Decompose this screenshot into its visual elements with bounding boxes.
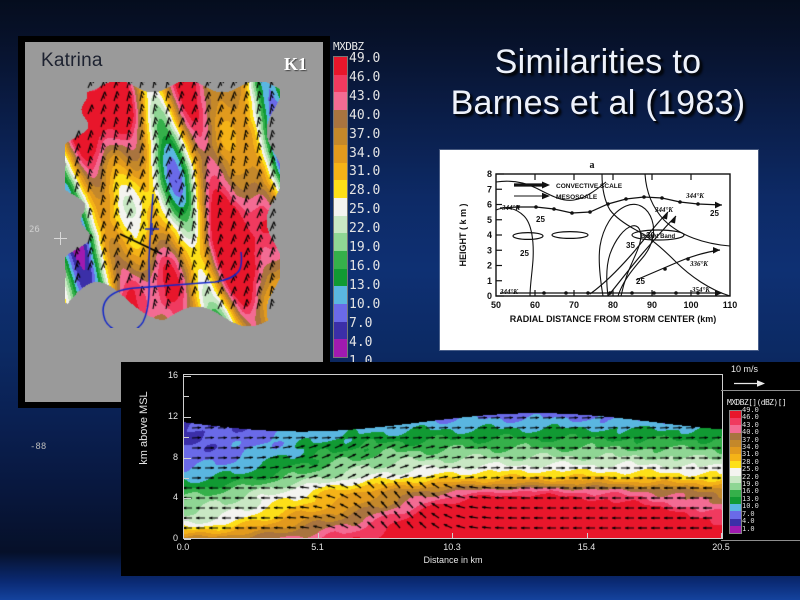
colorbar-swatch — [730, 447, 741, 454]
barnes-x-tick: 80 — [608, 300, 618, 310]
barnes-y-tick: 2 — [487, 261, 492, 271]
cross-section-y-tick: 0 — [156, 533, 178, 543]
colorbar-swatch — [334, 57, 347, 75]
colorbar-swatch — [334, 163, 347, 181]
longitude-tick-label: -88 — [30, 442, 46, 452]
barnes-x-tick: 60 — [530, 300, 540, 310]
barnes-y-tick: 7 — [487, 184, 492, 194]
colorbar-swatch — [730, 418, 741, 425]
storm-name-label: Katrina — [41, 50, 103, 72]
colorbar-tick-label: 10.0 — [349, 296, 389, 315]
svg-text:25: 25 — [710, 209, 719, 218]
colorbar-swatch — [730, 504, 741, 511]
svg-text:MESOSCALE: MESOSCALE — [556, 194, 598, 201]
cross-section-x-tick: 10.3 — [441, 542, 463, 552]
colorbar-tick-label: 16.0 — [349, 258, 389, 277]
colorbar-tick-label: 31.0 — [349, 163, 389, 182]
svg-text:344°K: 344°K — [501, 204, 521, 212]
vector-scale-arrow-icon — [733, 379, 767, 388]
svg-text:344°K: 344°K — [499, 288, 519, 296]
barnes-x-tick: 50 — [491, 300, 501, 310]
panel-divider-bottom — [721, 540, 800, 541]
svg-text:HEIGHT ( k m ): HEIGHT ( k m ) — [458, 203, 468, 266]
cross-section-y-tick: 8 — [156, 452, 178, 462]
cross-section-x-tick: 15.4 — [576, 542, 598, 552]
cross-section-x-axis-label: Distance in km — [183, 555, 723, 565]
colorbar-swatch — [334, 304, 347, 322]
cross-section-plot-area — [183, 374, 723, 539]
colorbar-swatch — [730, 483, 741, 490]
colorbar-swatch — [334, 269, 347, 287]
svg-text:a: a — [590, 160, 595, 171]
colorbar-swatch — [334, 251, 347, 269]
colorbar-swatch — [334, 145, 347, 163]
colorbar-swatch — [730, 476, 741, 483]
colorbar-swatch — [730, 454, 741, 461]
barnes-y-tick: 4 — [487, 230, 492, 240]
colorbar-swatch — [334, 286, 347, 304]
cross-section-x-tick: 0.0 — [172, 542, 194, 552]
cross-section-y-tick-mark — [184, 458, 191, 459]
panel-divider-top — [721, 390, 800, 391]
radar-plot-background: Katrina K1 26 — [25, 42, 323, 402]
cross-section-colorbar-tick-labels: 49.046.043.040.037.034.031.028.025.022.0… — [742, 407, 778, 535]
colorbar-tick-label: 13.0 — [349, 277, 389, 296]
cross-section-x-tick-mark — [721, 533, 722, 539]
cross-section-y-tick-mark — [184, 498, 191, 499]
colorbar-swatch — [334, 198, 347, 216]
barnes-y-tick: 1 — [487, 276, 492, 286]
colorbar-tick-label: 46.0 — [349, 69, 389, 88]
svg-text:25: 25 — [636, 277, 645, 286]
cross-section-y-minor-tick — [184, 396, 189, 397]
cross-section-y-minor-tick — [184, 478, 189, 479]
cross-section-x-tick: 5.1 — [307, 542, 329, 552]
presentation-slide: Similarities to Barnes et al (1983) Katr… — [0, 0, 800, 600]
colorbar-tick-label: 49.0 — [349, 50, 389, 69]
colorbar-tick-label: 40.0 — [349, 107, 389, 126]
radar-colorbar-tick-labels: 49.046.043.040.037.034.031.028.025.022.0… — [349, 50, 389, 360]
colorbar-tick-label: 7.0 — [349, 315, 389, 334]
colorbar-swatch — [334, 128, 347, 146]
barnes-y-tick: 6 — [487, 200, 492, 210]
vector-scale-label: 10 m/s — [731, 364, 797, 374]
vertical-cross-section-panel: km above MSL Distance in km 10 m/s MXDBZ… — [121, 362, 800, 576]
barnes-1983-figure: a 876543210 — [440, 150, 758, 350]
colorbar-swatch — [334, 339, 347, 357]
colorbar-swatch — [730, 519, 741, 526]
colorbar-swatch — [730, 425, 741, 432]
colorbar-swatch — [334, 92, 347, 110]
colorbar-tick-label: 37.0 — [349, 126, 389, 145]
svg-text:CONVECTIVE SCALE: CONVECTIVE SCALE — [556, 183, 623, 190]
colorbar-swatch — [730, 461, 741, 468]
barnes-y-tick: 3 — [487, 245, 492, 255]
colorbar-swatch — [334, 322, 347, 340]
colorbar-swatch — [730, 497, 741, 504]
colorbar-swatch — [334, 110, 347, 128]
colorbar-swatch — [334, 216, 347, 234]
barnes-y-tick: 8 — [487, 169, 492, 179]
svg-text:35: 35 — [626, 241, 635, 250]
colorbar-tick-label: 43.0 — [349, 88, 389, 107]
colorbar-swatch — [334, 180, 347, 198]
barnes-x-tick: 90 — [647, 300, 657, 310]
cross-section-y-tick: 16 — [156, 370, 178, 380]
colorbar-tick-label: 1.0 — [742, 526, 778, 533]
svg-text:344°K: 344°K — [654, 206, 674, 214]
barnes-x-tick: 70 — [569, 300, 579, 310]
cross-section-x-tick-mark — [318, 533, 319, 539]
svg-text:354°K: 354°K — [691, 286, 711, 294]
colorbar-swatch — [730, 433, 741, 440]
cross-section-x-tick: 20.5 — [710, 542, 732, 552]
latitude-tick-label: 26 — [29, 225, 40, 235]
cross-section-x-tick-mark — [452, 533, 453, 539]
cross-section-y-tick-mark — [184, 417, 191, 418]
colorbar-swatch — [730, 511, 741, 518]
pass-id-label: K1 — [284, 54, 307, 75]
barnes-x-tick: 110 — [723, 300, 738, 310]
barnes-y-tick: 5 — [487, 215, 492, 225]
colorbar-tick-label: 25.0 — [349, 201, 389, 220]
colorbar-tick-label: 22.0 — [349, 220, 389, 239]
cross-section-x-tick-mark — [587, 533, 588, 539]
cross-section-y-tick-mark — [184, 376, 191, 377]
cross-section-colorbar-swatches — [729, 410, 742, 534]
colorbar-swatch — [730, 468, 741, 475]
colorbar-swatch — [730, 440, 741, 447]
colorbar-tick-label: 34.0 — [349, 145, 389, 164]
colorbar-swatch — [334, 233, 347, 251]
svg-text:344°K: 344°K — [685, 192, 705, 200]
colorbar-tick-label: 19.0 — [349, 239, 389, 258]
svg-text:RADIAL DISTANCE FROM STORM: RADIAL DISTANCE FROM STORM CENTER (km) — [510, 314, 717, 324]
colorbar-tick-label: 4.0 — [349, 334, 389, 353]
svg-text:25: 25 — [536, 215, 545, 224]
radar-reflectivity-field — [65, 82, 280, 328]
radar-colorbar: MXDBZ 49.046.043.040.037.034.031.028.025… — [333, 40, 385, 370]
svg-text:Bright Band: Bright Band — [641, 234, 676, 240]
latitude-crosshair-icon — [54, 232, 67, 245]
cross-section-y-axis-label: km above MSL — [138, 368, 150, 488]
barnes-x-tick: 100 — [683, 300, 698, 310]
svg-text:25: 25 — [520, 249, 529, 258]
page-title: Similarities to Barnes et al (1983) — [400, 42, 796, 124]
radar-plan-view-panel: Katrina K1 26 -88 — [18, 36, 330, 408]
barnes-figure-svg: a 876543210 — [440, 150, 758, 350]
colorbar-tick-label: 28.0 — [349, 182, 389, 201]
colorbar-swatch — [730, 490, 741, 497]
radar-colorbar-swatches — [333, 56, 348, 358]
cross-section-y-minor-tick — [184, 437, 189, 438]
colorbar-swatch — [730, 526, 741, 533]
cross-section-y-minor-tick — [184, 519, 189, 520]
cross-section-y-tick: 12 — [156, 411, 178, 421]
colorbar-swatch — [334, 75, 347, 93]
cross-section-y-tick-mark — [184, 539, 191, 540]
colorbar-swatch — [730, 411, 741, 418]
cross-section-y-tick: 4 — [156, 492, 178, 502]
svg-text:336°K: 336°K — [689, 260, 709, 268]
